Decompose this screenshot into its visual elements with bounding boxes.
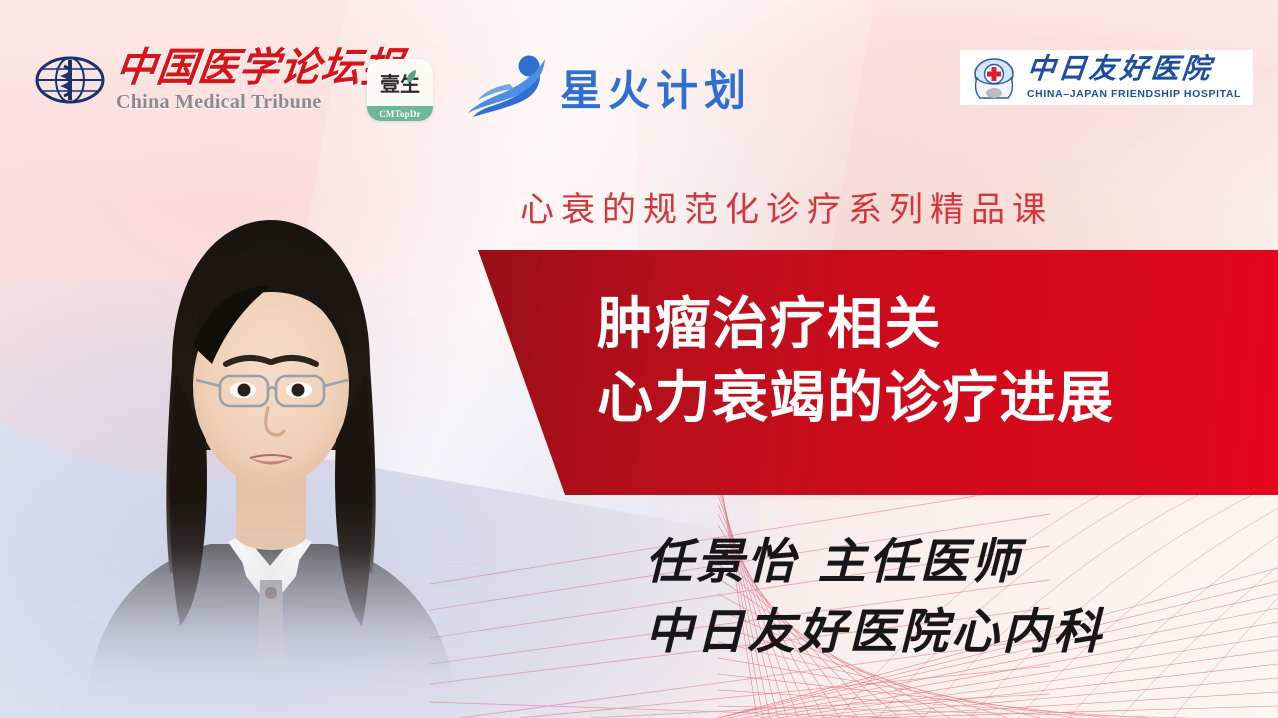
series-subtitle: 心衰的规范化诊疗系列精品课 — [520, 182, 1220, 231]
speaker-affiliation: 中日友好医院心内科 — [645, 598, 1265, 668]
hospital-english-name: CHINA–JAPAN FRIENDSHIP HOSPITAL — [1027, 89, 1241, 100]
hospital-emblem-icon — [970, 56, 1018, 100]
spark-plan-logo[interactable]: 星火计划 — [466, 52, 752, 122]
hospital-logo[interactable]: 中日友好医院 CHINA–JAPAN FRIENDSHIP HOSPITAL — [960, 50, 1253, 105]
speaker-portrait — [60, 150, 480, 718]
flying-person-icon — [466, 52, 552, 122]
cmt-logo-chinese: 中国医学论坛报 — [114, 48, 406, 88]
spark-plan-label: 星火计划 — [560, 57, 752, 118]
speaker-info: 任景怡 主任医师 中日友好医院心内科 — [645, 528, 1265, 667]
header-logo-bar: 中国医学论坛报 China Medical Tribune 壹生 CMTopDr — [0, 0, 1278, 150]
cmtopdr-english-label: CMTopDr — [367, 106, 433, 121]
main-title-line1: 肿瘤治疗相关 — [597, 288, 1237, 362]
leaf-icon — [405, 69, 417, 85]
hospital-chinese-name: 中日友好医院 — [1026, 56, 1243, 84]
course-promo-poster: 中国医学论坛报 China Medical Tribune 壹生 CMTopDr — [0, 0, 1278, 718]
cmtopdr-badge[interactable]: 壹生 CMTopDr — [367, 59, 433, 121]
main-title: 肿瘤治疗相关 心力衰竭的诊疗进展 — [597, 288, 1237, 436]
cmt-logo[interactable]: 中国医学论坛报 China Medical Tribune — [34, 48, 403, 112]
globe-caduceus-icon — [34, 52, 106, 108]
portrait-illustration-icon — [60, 150, 480, 718]
main-title-line2: 心力衰竭的诊疗进展 — [597, 362, 1237, 436]
cmtopdr-badge-face: 壹生 — [367, 59, 433, 106]
speaker-name-and-title: 任景怡 主任医师 — [645, 528, 1265, 598]
cmt-logo-english: China Medical Tribune — [116, 92, 403, 112]
